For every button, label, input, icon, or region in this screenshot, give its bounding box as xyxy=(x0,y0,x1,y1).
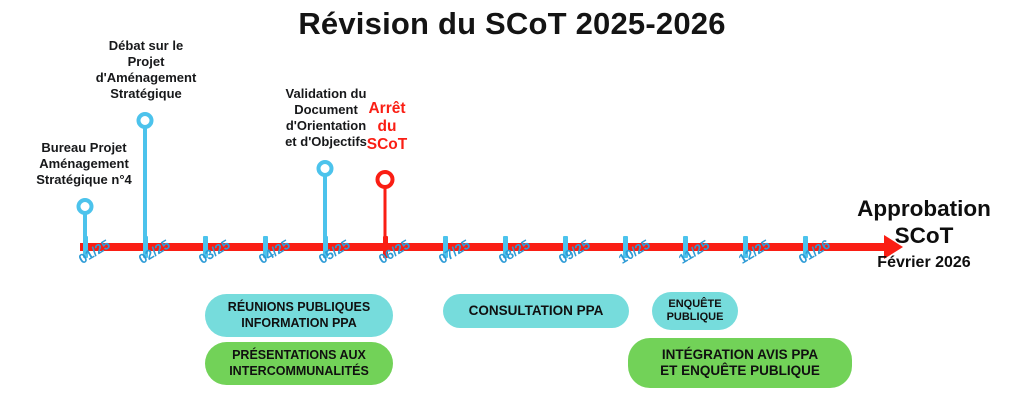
phase-pill-enquete-publique[interactable]: ENQUÊTE PUBLIQUE xyxy=(652,292,738,330)
milestone-circle-icon xyxy=(317,160,334,177)
axis-tick-label: 01/26 xyxy=(796,237,833,267)
axis-tick-label: 03/25 xyxy=(196,237,233,267)
axis-tick-label: 08/25 xyxy=(496,237,533,267)
milestone-label-arret-scot: Arrêt du SCoT xyxy=(360,100,414,153)
axis-tick-label: 10/25 xyxy=(616,237,653,267)
milestone-marker-debat-pas[interactable] xyxy=(133,112,157,247)
milestone-stem xyxy=(83,212,87,247)
phase-pill-reunions-publiques[interactable]: RÉUNIONS PUBLIQUES INFORMATION PPA xyxy=(205,294,393,337)
page-title: Révision du SCoT 2025-2026 xyxy=(0,6,1024,42)
axis-tick-label: 09/25 xyxy=(556,237,593,267)
phase-pill-consultation-ppa[interactable]: CONSULTATION PPA xyxy=(443,294,629,328)
phase-pill-presentations-intercommunalites[interactable]: PRÉSENTATIONS AUX INTERCOMMUNALITÉS xyxy=(205,342,393,385)
milestone-marker-bureau-projet[interactable] xyxy=(73,198,97,247)
milestone-stem xyxy=(384,184,387,247)
milestone-marker-validation-doo[interactable] xyxy=(313,160,337,247)
axis-tick-label: 11/25 xyxy=(676,237,712,267)
axis-tick-label: 12/25 xyxy=(736,237,773,267)
approbation-date: Février 2026 xyxy=(840,254,1008,272)
milestone-circle-icon xyxy=(137,112,154,129)
axis-tick-label: 07/25 xyxy=(436,237,473,267)
approbation-title: Approbation SCoT xyxy=(840,196,1008,249)
milestone-stem xyxy=(323,174,327,247)
milestone-stem xyxy=(143,126,147,247)
approbation-block: Approbation SCoT Février 2026 xyxy=(840,196,1008,272)
milestone-marker-arret-scot[interactable] xyxy=(373,170,397,247)
axis-tick-label: 04/25 xyxy=(256,237,293,267)
milestone-circle-icon xyxy=(376,170,395,189)
phase-pill-integration-avis[interactable]: INTÉGRATION AVIS PPA ET ENQUÊTE PUBLIQUE xyxy=(628,338,852,388)
milestone-label-debat-pas: Débat sur le Projet d'Aménagement Straté… xyxy=(78,38,214,101)
milestone-circle-icon xyxy=(77,198,94,215)
timeline-infographic: Révision du SCoT 2025-2026 01/2502/2503/… xyxy=(0,0,1024,404)
